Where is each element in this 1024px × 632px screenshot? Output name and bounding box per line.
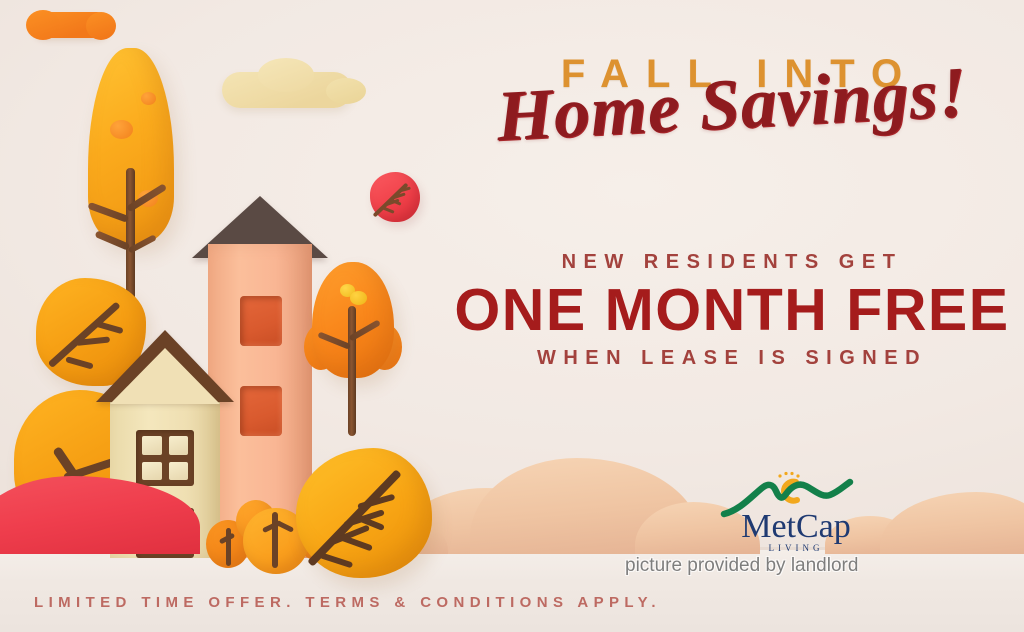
house-window (240, 296, 282, 346)
footer-disclaimer: LIMITED TIME OFFER. TERMS & CONDITIONS A… (34, 594, 661, 611)
tree-yellow-illustration (88, 48, 174, 244)
logo-tagline: LIVING (718, 543, 874, 553)
tree-trunk (348, 306, 356, 436)
offer-post-text: WHEN LEASE IS SIGNED (452, 346, 1012, 370)
window-pane (142, 436, 162, 455)
tree-fruit-dot (110, 120, 133, 139)
leaf-golden-large-illustration (296, 448, 432, 578)
window-pane (142, 462, 162, 481)
watermark-text: picture provided by landlord (625, 555, 858, 577)
tree-orange-illustration (312, 262, 394, 378)
metcap-logo: MetCap LIVING (718, 470, 874, 562)
sun-rays-icon (778, 472, 799, 478)
tree-fruit-dot (350, 291, 367, 305)
cloud-cream-icon (222, 72, 352, 108)
tree-fruit-dot (141, 92, 156, 105)
offer-pre-text: NEW RESIDENTS GET (452, 250, 1012, 274)
cloud-orange-icon (32, 12, 110, 38)
window-pane (169, 436, 189, 455)
logo-wordmark: MetCap (718, 510, 874, 544)
promo-banner: FALL INTO Home Savings! NEW RESIDENTS GE… (0, 0, 1024, 632)
house-roof (96, 330, 234, 402)
floor-surface (0, 550, 1024, 632)
offer-main-text: ONE MONTH FREE (452, 280, 1012, 342)
house-window-grid (136, 430, 194, 486)
headline-block: FALL INTO Home Savings! (452, 54, 1012, 137)
window-pane (169, 462, 189, 481)
house-window (240, 386, 282, 436)
offer-block: NEW RESIDENTS GET ONE MONTH FREE WHEN LE… (452, 250, 1012, 370)
hill-shape (880, 492, 1024, 554)
leaf-red-illustration (370, 172, 420, 222)
